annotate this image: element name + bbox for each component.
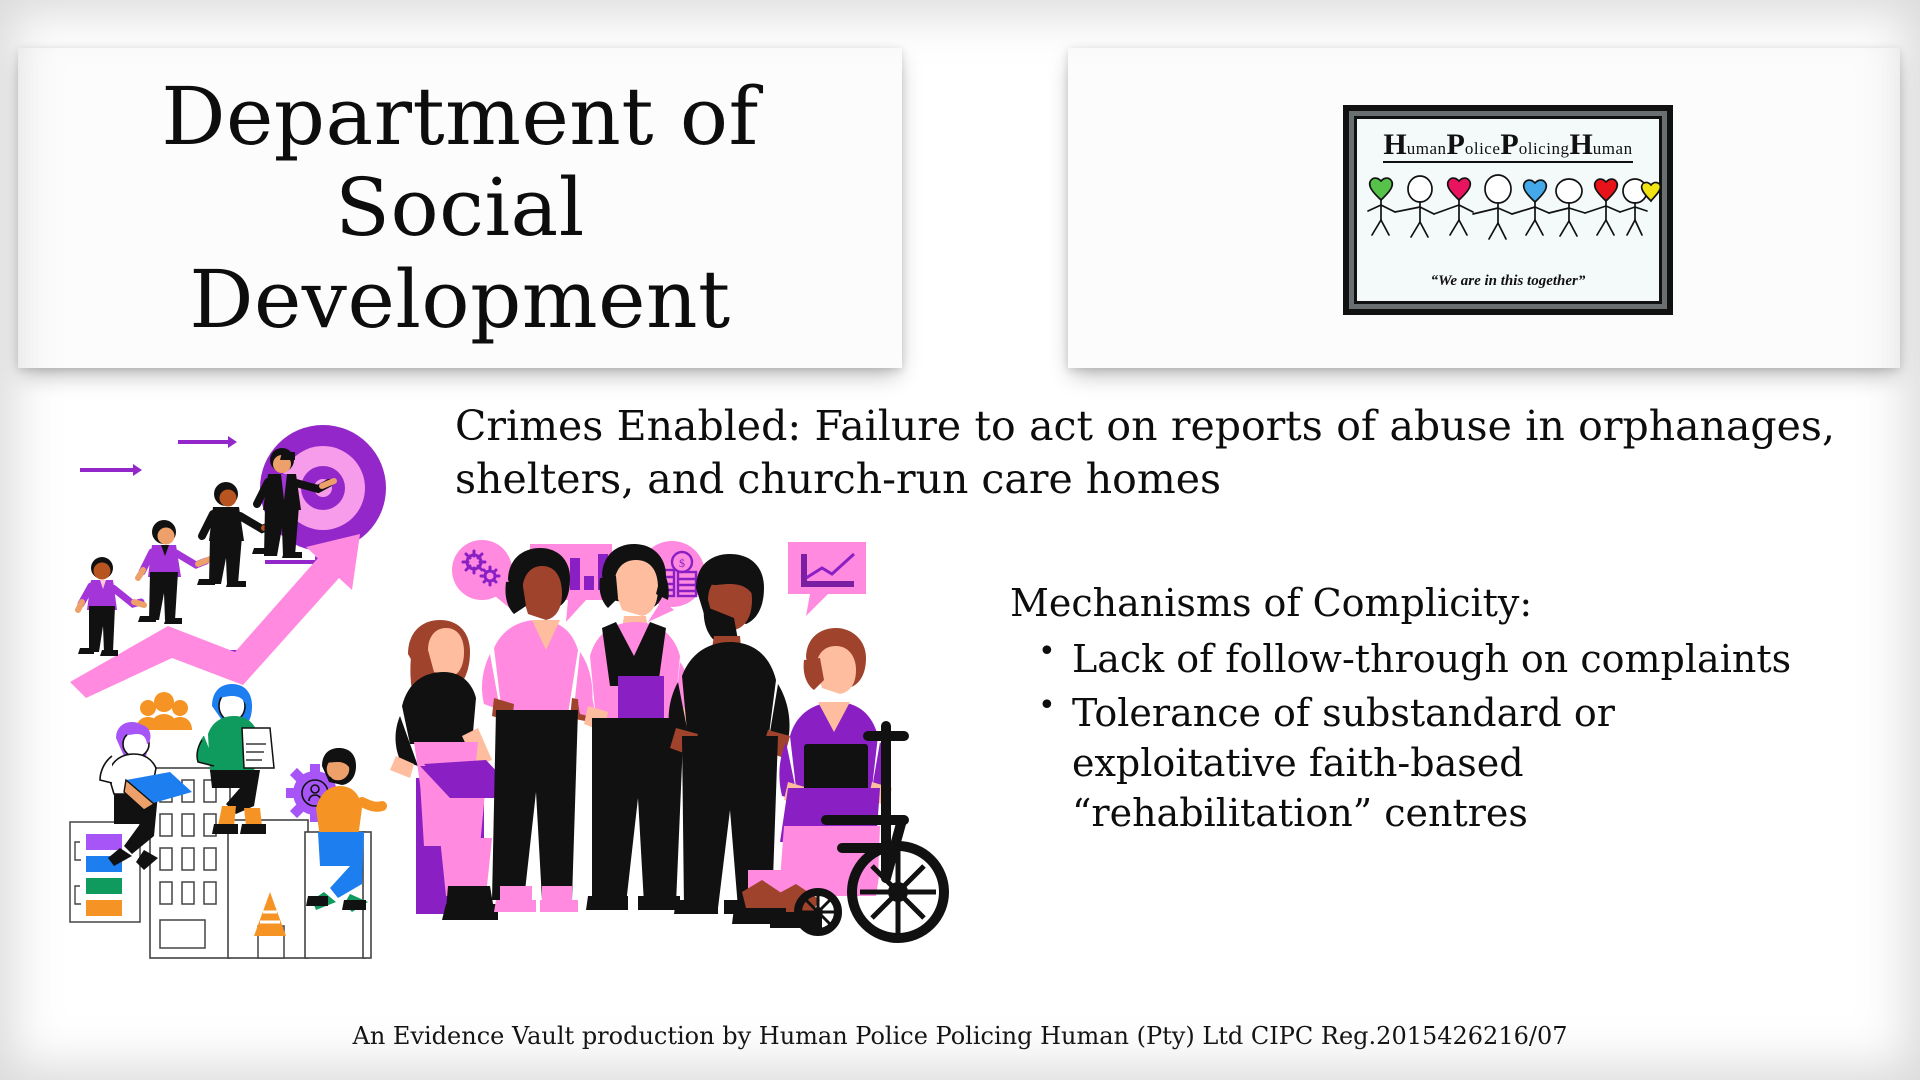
hpph-logo-badge: HumanPolicePolicingHuman — [1343, 105, 1673, 315]
logo-letter-h1: H — [1383, 128, 1406, 161]
logo-tagline: “We are in this together” — [1357, 273, 1659, 290]
logo-letter-p1: P — [1447, 128, 1465, 161]
speech-bubble-gears — [452, 540, 512, 610]
mechanisms-block: Mechanisms of Complicity: Lack of follow… — [1010, 580, 1800, 842]
list-item: Tolerance of substandard or exploitative… — [1072, 688, 1800, 838]
legend-card — [70, 822, 140, 922]
logo-word-human2: uman — [1593, 139, 1633, 158]
logo-wordmark: HumanPolicePolicingHuman — [1383, 130, 1632, 163]
person-bearded-man — [669, 554, 790, 914]
people-group-icon — [136, 692, 192, 730]
logo-letter-p2: P — [1500, 128, 1518, 161]
logo-word-policing: olicing — [1519, 139, 1570, 158]
logo-card: HumanPolicePolicingHuman — [1068, 48, 1900, 368]
speech-bubble-line-chart — [788, 542, 866, 616]
lead-paragraph: Crimes Enabled: Failure to act on report… — [455, 400, 1835, 507]
logo-frame: HumanPolicePolicingHuman — [1349, 111, 1667, 309]
city-team-illustration — [60, 680, 400, 1010]
logo-inner: HumanPolicePolicingHuman — [1357, 119, 1659, 301]
mechanisms-heading: Mechanisms of Complicity: — [1010, 580, 1800, 628]
mechanisms-list: Lack of follow-through on complaints Tol… — [1010, 634, 1800, 839]
logo-letter-h2: H — [1569, 128, 1592, 161]
growth-arrow-illustration — [60, 400, 400, 700]
logo-word-human1: uman — [1407, 139, 1447, 158]
people-group-illustration: $ — [390, 520, 990, 1000]
slide-canvas: Department of Social Development HumanPo… — [0, 0, 1920, 1080]
page-title: Department of Social Development — [18, 71, 902, 345]
list-item: Lack of follow-through on complaints — [1072, 634, 1800, 684]
stick-figures-illustration — [1363, 167, 1653, 263]
svg-text:$: $ — [679, 556, 685, 570]
footer-credit: An Evidence Vault production by Human Po… — [0, 1022, 1920, 1050]
title-card: Department of Social Development — [18, 48, 902, 368]
logo-word-police: olice — [1465, 139, 1501, 158]
